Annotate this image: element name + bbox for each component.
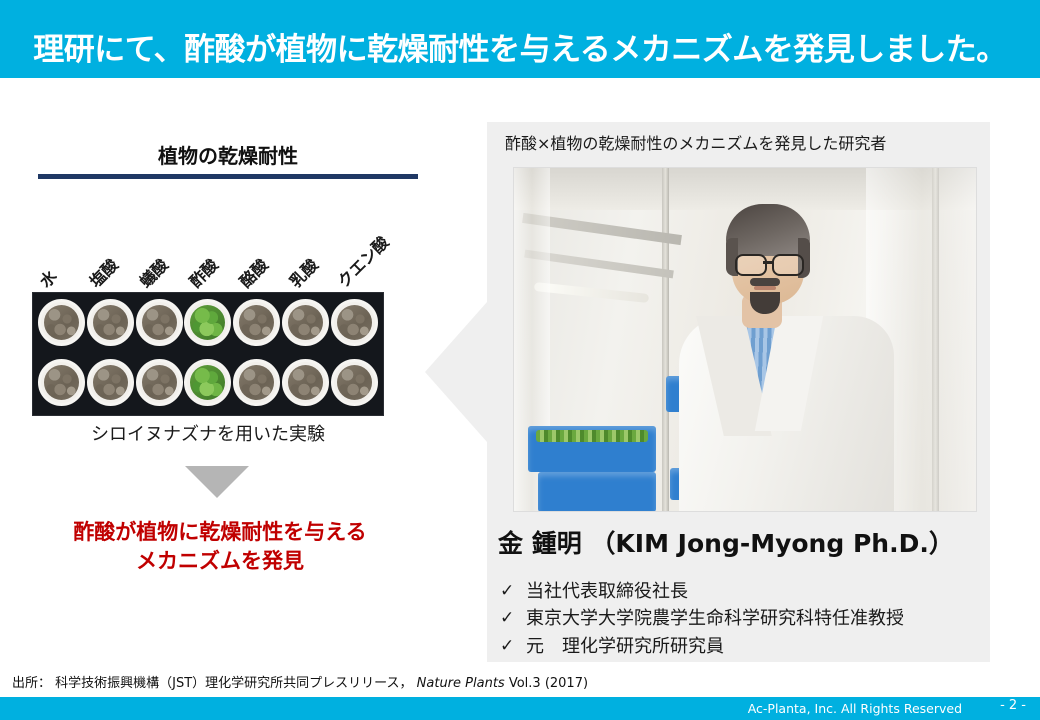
check-icon: ✓	[500, 580, 526, 603]
credential-label: 元 理化学研究所研究員	[526, 635, 724, 659]
acid-label-formic: 蟻酸	[133, 252, 173, 292]
eyeglasses-bridge-icon	[763, 261, 774, 264]
pot-row-bottom	[38, 359, 378, 415]
pot-acetic-bottom	[184, 359, 231, 406]
soil-icon	[337, 305, 372, 340]
soil-icon	[44, 365, 79, 400]
pot-tray-caption: シロイヌナズナを用いた実験	[32, 420, 384, 446]
credential-item: ✓ 当社代表取締役社長	[500, 580, 990, 604]
soil-icon	[142, 305, 177, 340]
acid-label-hydrochloric: 塩酸	[83, 252, 123, 292]
soil-icon	[44, 305, 79, 340]
down-triangle-icon	[185, 466, 249, 498]
page-number: - 2 -	[1000, 698, 1026, 713]
credential-label: 東京大学大学院農学生命科学研究科特任准教授	[526, 607, 904, 631]
pot-butyric-top	[233, 299, 280, 346]
eyeglasses-right-lens-icon	[772, 254, 804, 276]
pot-hydrochloric-top	[87, 299, 134, 346]
conclusion-text: 酢酸が植物に乾燥耐性を与える メカニズムを発見	[20, 518, 420, 576]
check-icon: ✓	[500, 607, 526, 630]
soil-icon	[288, 365, 323, 400]
pot-water-bottom	[38, 359, 85, 406]
credential-label: 当社代表取締役社長	[526, 580, 688, 604]
pot-acetic-top	[184, 299, 231, 346]
pot-water-top	[38, 299, 85, 346]
source-prefix: 出所： 科学技術振興機構（JST）理化学研究所共同プレスリリース，	[12, 676, 413, 691]
pot-hydrochloric-bottom	[87, 359, 134, 406]
soil-icon	[337, 365, 372, 400]
page-title: 理研にて、酢酸が植物に乾燥耐性を与えるメカニズムを発見しました。	[0, 0, 1040, 78]
soil-icon	[288, 305, 323, 340]
mustache	[750, 278, 780, 286]
source-volume: Vol.3 (2017)	[509, 676, 588, 691]
soil-icon	[239, 305, 274, 340]
acid-label-butyric: 酪酸	[233, 252, 273, 292]
green-plant-icon	[190, 365, 225, 400]
soil-icon	[142, 365, 177, 400]
pot-lactic-top	[282, 299, 329, 346]
pot-formic-top	[136, 299, 183, 346]
seedlings-row-1	[536, 430, 648, 442]
source-journal: Nature Plants	[417, 676, 505, 691]
pot-lactic-bottom	[282, 359, 329, 406]
soil-icon	[93, 365, 128, 400]
researcher-photo	[513, 167, 977, 512]
eyeglasses-left-lens-icon	[735, 254, 767, 276]
rack-post-left	[662, 168, 669, 512]
soil-icon	[239, 365, 274, 400]
credential-item: ✓ 東京大学大学院農学生命科学研究科特任准教授	[500, 607, 990, 631]
researcher-name: 金 鍾明 （KIM Jong-Myong Ph.D.）	[498, 524, 954, 560]
heading-underline	[38, 174, 418, 179]
check-icon: ✓	[500, 635, 526, 658]
pot-formic-bottom	[136, 359, 183, 406]
acid-label-group: 水 塩酸 蟻酸 酢酸 酪酸 乳酸 クエン酸	[32, 222, 428, 292]
source-citation: 出所： 科学技術振興機構（JST）理化学研究所共同プレスリリース， Nature…	[12, 672, 588, 691]
left-section-heading: 植物の乾燥耐性	[38, 140, 418, 169]
blue-seedling-tray-2	[538, 472, 656, 512]
copyright-text: Ac-Planta, Inc. All Rights Reserved	[748, 701, 962, 716]
mouth	[754, 286, 776, 290]
conclusion-line-2: メカニズムを発見	[20, 547, 420, 576]
pot-citric-bottom	[331, 359, 378, 406]
acid-label-water: 水	[33, 264, 61, 292]
acid-label-acetic: 酢酸	[183, 252, 223, 292]
credentials-list: ✓ 当社代表取締役社長 ✓ 東京大学大学院農学生命科学研究科特任准教授 ✓ 元 …	[500, 580, 990, 662]
acid-label-lactic: 乳酸	[283, 252, 323, 292]
green-plant-icon	[190, 305, 225, 340]
slide-root: 理研にて、酢酸が植物に乾燥耐性を与えるメカニズムを発見しました。 植物の乾燥耐性…	[0, 0, 1040, 720]
conclusion-line-1: 酢酸が植物に乾燥耐性を与える	[20, 518, 420, 547]
pot-citric-top	[331, 299, 378, 346]
researcher-panel-heading: 酢酸×植物の乾燥耐性のメカニズムを発見した研究者	[505, 130, 975, 154]
pot-row-top	[38, 299, 378, 355]
acid-label-citric: クエン酸	[331, 230, 393, 292]
credential-item: ✓ 元 理化学研究所研究員	[500, 635, 990, 659]
soil-icon	[93, 305, 128, 340]
pot-tray-photo	[32, 292, 384, 416]
pot-butyric-bottom	[233, 359, 280, 406]
